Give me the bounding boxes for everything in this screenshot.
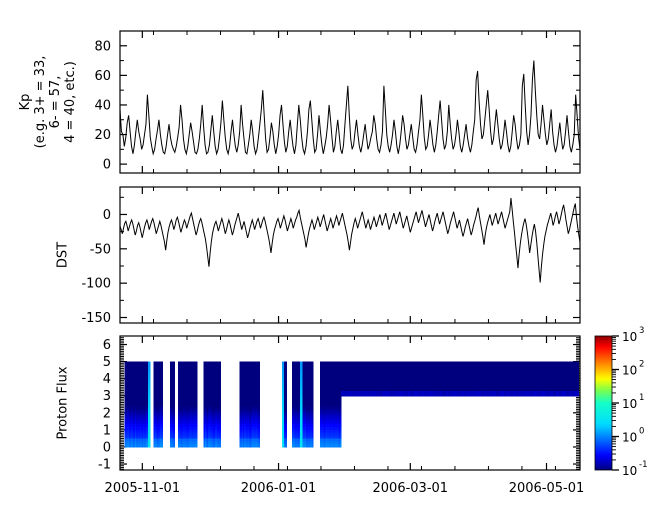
proton-axis-label: Proton Flux <box>56 366 71 439</box>
y-tick-label: 3 <box>103 389 111 404</box>
kp-y-axis: 020406080 <box>94 31 580 173</box>
dst-axis-label: DST <box>56 242 71 268</box>
axis-label-line: 4 = 40, etc.) <box>63 61 78 143</box>
y-tick-label: 0 <box>103 208 111 223</box>
figure-canvas: 0204060800-50-100-150-101234562005-11-01… <box>0 0 665 523</box>
spectrogram-cell <box>149 444 151 447</box>
spectrogram-cell <box>174 444 176 447</box>
spectrogram-cell <box>196 444 198 447</box>
x-tick-label: 2006-03-01 <box>373 481 449 496</box>
y-tick-label: 5 <box>103 355 111 370</box>
spectrogram-cell <box>285 444 287 447</box>
spectrogram-cell <box>219 444 221 447</box>
y-tick-label: 20 <box>94 128 111 143</box>
axis-label-line: Kp <box>18 94 33 111</box>
dst-y-axis: 0-50-100-150 <box>81 197 580 326</box>
dst-trace <box>120 198 580 282</box>
y-tick-label: 80 <box>94 39 111 54</box>
kp-axis-label: Kp(e.g. 3+ = 33,6- = 57,4 = 40, etc.) <box>18 56 78 149</box>
spectrogram-cell <box>258 444 260 447</box>
y-tick-label: -150 <box>81 311 111 326</box>
spectrogram-cell <box>340 444 342 447</box>
y-tick-label: 60 <box>94 69 111 84</box>
y-tick-label: 0 <box>103 158 111 173</box>
y-tick-label: 0 <box>103 440 111 455</box>
x-tick-label: 2006-01-01 <box>241 481 317 496</box>
axis-label-line: DST <box>56 242 71 268</box>
spectrogram-cell <box>312 444 314 447</box>
axis-label-line: (e.g. 3+ = 33, <box>33 56 48 149</box>
y-tick-label: 2 <box>103 406 111 421</box>
x-tick-label: 2006-05-01 <box>509 481 585 496</box>
x-tick-label: 2005-11-01 <box>105 481 181 496</box>
axis-label-line: 6- = 57, <box>48 76 63 129</box>
y-tick-label: 1 <box>103 423 111 438</box>
y-tick-label: 40 <box>94 98 111 113</box>
y-tick-label: -1 <box>98 458 111 473</box>
proton-x-axis: 2005-11-012006-01-012006-03-012006-05-01 <box>105 336 585 496</box>
dst-panel-frame <box>120 187 580 323</box>
y-tick-label: -50 <box>90 242 111 257</box>
kp-trace <box>120 61 580 154</box>
kp-panel-frame <box>120 31 580 173</box>
y-tick-label: 6 <box>103 338 111 353</box>
spectrogram-cell <box>161 444 163 447</box>
y-tick-label: -100 <box>81 277 111 292</box>
spectrogram-cells <box>124 362 580 448</box>
dst-x-axis <box>142 187 555 323</box>
proton-flux-spectrogram <box>124 362 580 448</box>
axis-label-line: Proton Flux <box>56 366 71 439</box>
y-tick-label: 4 <box>103 372 111 387</box>
multi-panel-plot: 0204060800-50-100-150-101234562005-11-01… <box>0 0 665 523</box>
